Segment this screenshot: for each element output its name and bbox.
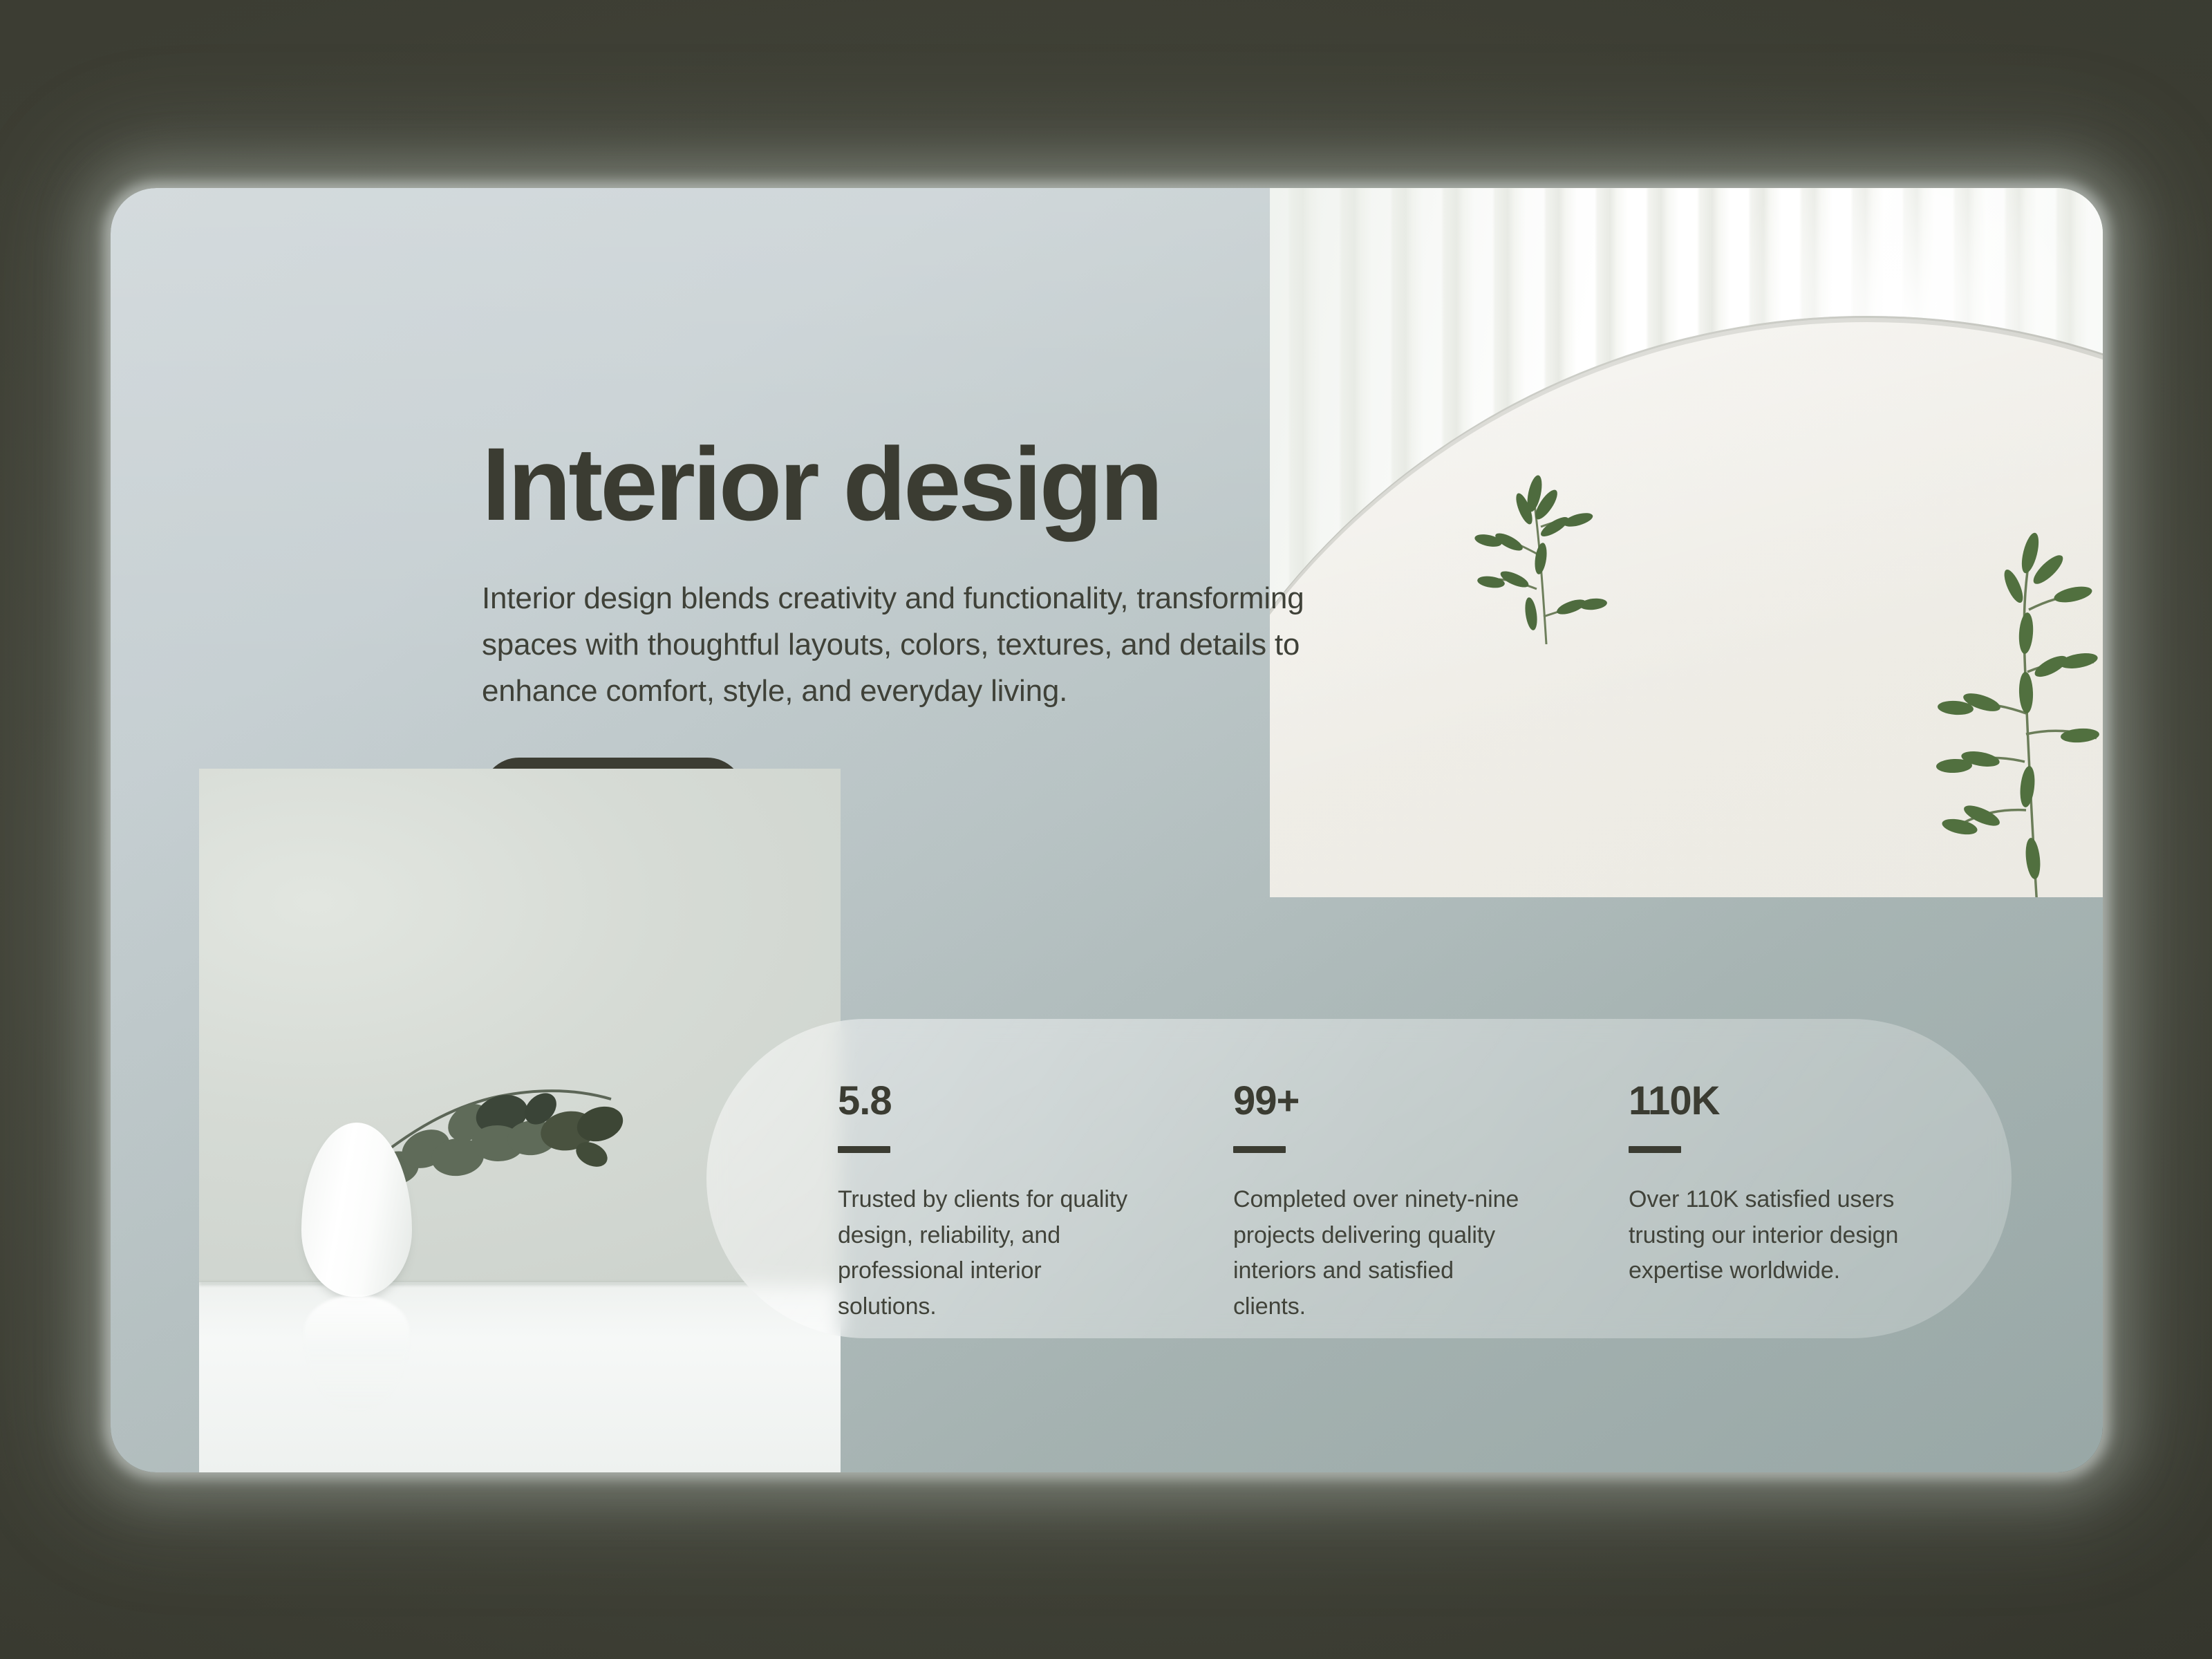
page-title: Interior design [482,431,1394,537]
hero-photo [1270,188,2103,897]
stat-value: 5.8 [838,1081,1193,1121]
stat-item: 110K Over 110K satisfied users trusting … [1629,1081,2012,1289]
stat-item: 99+ Completed over ninety-nine projects … [1233,1081,1616,1325]
olive-branch-left-icon [1443,416,1671,644]
stats-panel: 5.8 Trusted by clients for quality desig… [706,1019,2012,1338]
stat-divider [1233,1146,1286,1153]
stat-description: Trusted by clients for quality design, r… [838,1182,1128,1325]
stat-divider [1629,1146,1681,1153]
stat-divider [838,1146,890,1153]
olive-branch-right-icon [1878,485,2103,897]
vase-surface [199,1282,841,1472]
vase-surface-edge [199,1282,841,1285]
hero-card: Interior design Interior design blends c… [111,188,2103,1472]
stat-value: 99+ [1233,1081,1588,1121]
stat-description: Over 110K satisfied users trusting our i… [1629,1182,1919,1289]
stat-item: 5.8 Trusted by clients for quality desig… [838,1081,1221,1325]
stat-value: 110K [1629,1081,1984,1121]
stat-description: Completed over ninety-nine projects deli… [1233,1182,1524,1325]
hero-description: Interior design blends creativity and fu… [482,576,1367,715]
